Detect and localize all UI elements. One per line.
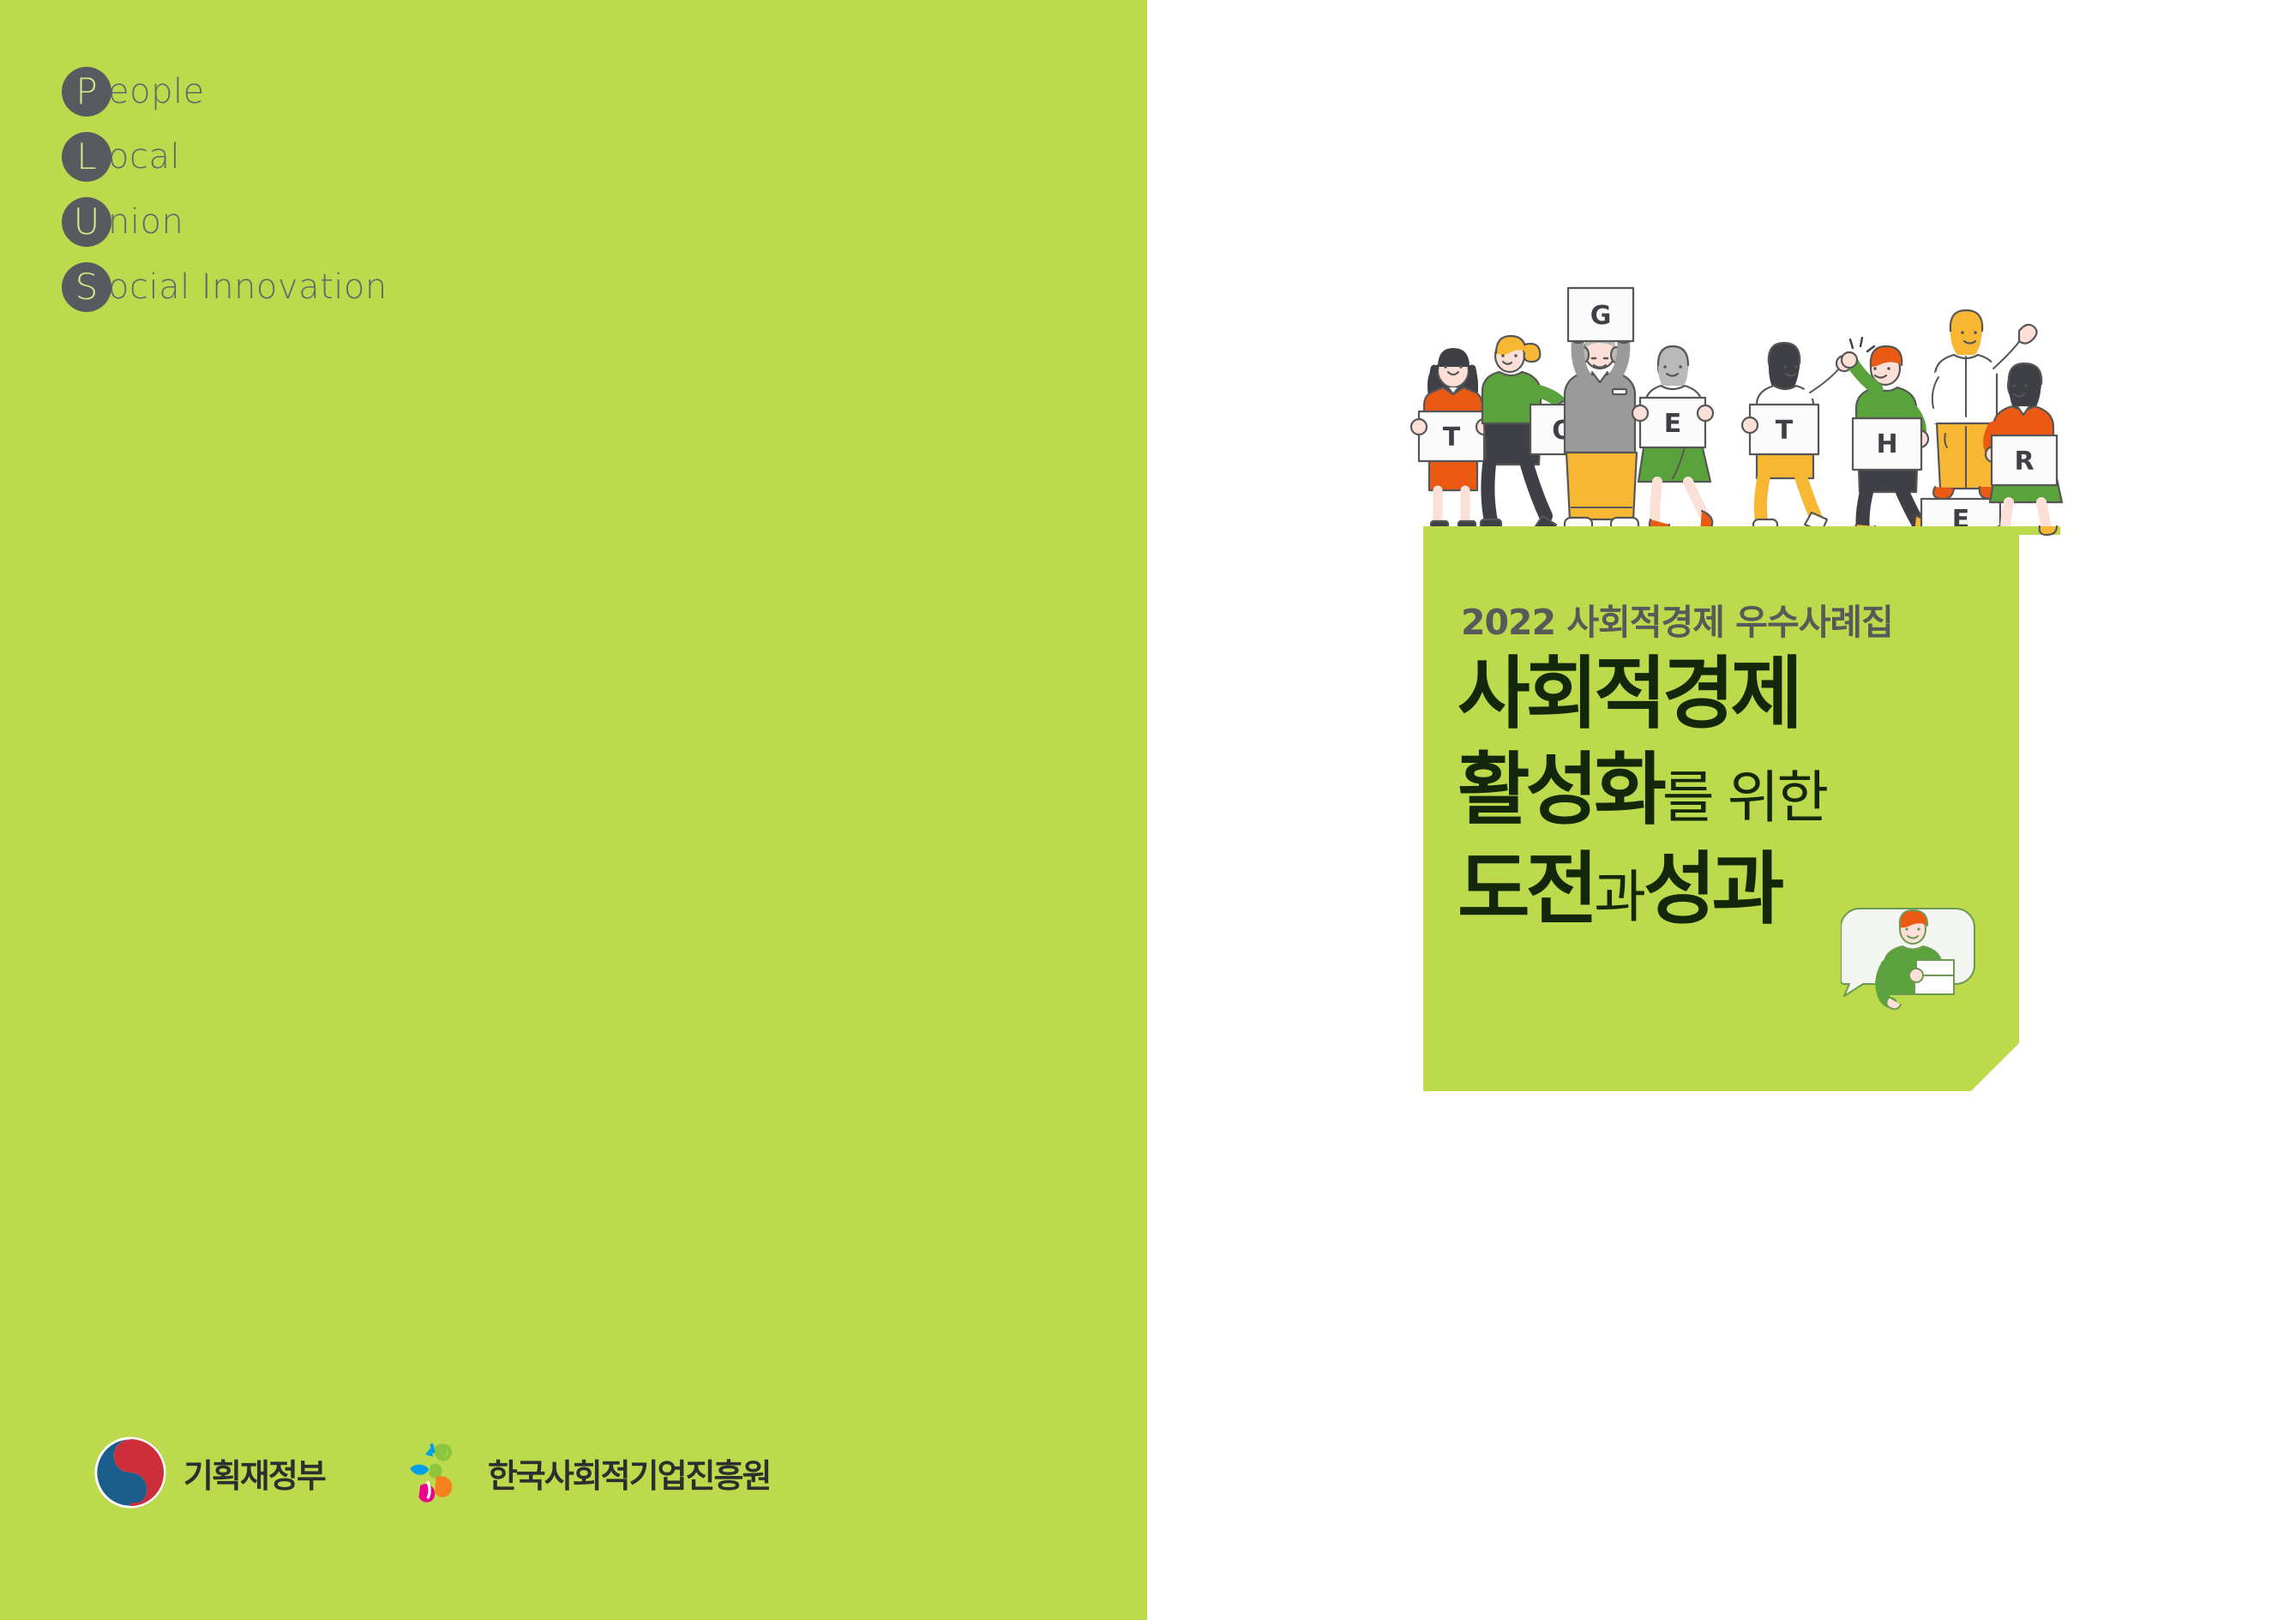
plus-circle-s: S xyxy=(62,262,111,312)
title-line-2-big: 활성화 xyxy=(1458,744,1662,836)
speech-bubble-person-illustration xyxy=(1841,897,1978,1012)
svg-text:T: T xyxy=(1443,423,1461,453)
plus-circle-u: U xyxy=(62,197,111,247)
plus-acronym-list: P eople L ocal U nion S ocial Inn xyxy=(62,67,388,312)
logo-unit-koseo: 한국사회적기업진흥원 xyxy=(399,1437,771,1509)
plus-row-people: P eople xyxy=(62,67,388,117)
plus-circle-p: P xyxy=(62,67,111,117)
title-line-3-small-a: 과 xyxy=(1594,864,1644,930)
svg-text:E: E xyxy=(1664,409,1682,439)
plus-row-social-innovation: S ocial Innovation xyxy=(62,262,388,312)
title-line-1-big: 사회적경제 xyxy=(1458,648,1799,740)
cover-eyebrow-text: 2022 사회적경제 우수사례집 xyxy=(1461,593,1893,645)
taegeuk-icon xyxy=(94,1437,166,1509)
plus-word-union: nion xyxy=(108,205,183,239)
front-cover-panel: T xyxy=(1147,0,2296,1620)
page-corner-fold xyxy=(1971,1043,2019,1091)
back-cover-panel: P eople L ocal U nion S ocial Inn xyxy=(0,0,1147,1620)
title-line-3: 도전과성과 xyxy=(1458,850,1780,929)
plus-word-people: eople xyxy=(108,75,205,109)
plus-row-union: U nion xyxy=(62,197,388,247)
person-1: T xyxy=(1411,348,1492,535)
title-block: 2022 사회적경제 우수사례집 사회적경제 활성화를 위한 도전과성과 xyxy=(1423,526,2019,1091)
svg-text:T: T xyxy=(1776,416,1794,446)
svg-text:H: H xyxy=(1876,429,1897,459)
title-line-2-small: 를 위한 xyxy=(1662,765,1826,831)
plus-word-local: ocal xyxy=(108,140,180,174)
plus-row-local: L ocal xyxy=(62,132,388,182)
person-3: G xyxy=(1565,288,1638,531)
logo-label-mofe: 기획재정부 xyxy=(183,1449,325,1497)
person-6: H xyxy=(1842,346,1928,535)
high-five-spark xyxy=(1850,338,1874,351)
plus-word-social-innovation: ocial Innovation xyxy=(108,270,388,304)
back-cover-logo-bar: 기획재정부 한국사회적기업진흥원 xyxy=(94,1437,770,1509)
title-line-3-big-a: 도전 xyxy=(1458,843,1594,935)
person-4: E xyxy=(1632,346,1713,533)
plus-letter-l: L xyxy=(76,139,96,175)
plus-letter-u: U xyxy=(74,204,100,240)
person-5: T xyxy=(1742,343,1852,533)
book-cover-spread: P eople L ocal U nion S ocial Inn xyxy=(0,0,2296,1620)
plus-letter-p: P xyxy=(75,74,97,110)
together-people-illustration: T xyxy=(1400,283,2086,540)
logo-unit-mofe: 기획재정부 xyxy=(94,1437,325,1509)
plus-letter-s: S xyxy=(75,269,99,305)
plus-circle-l: L xyxy=(62,132,111,182)
title-line-2: 활성화를 위한 xyxy=(1458,751,1826,830)
svg-text:G: G xyxy=(1590,301,1612,331)
logo-label-koseo: 한국사회적기업진흥원 xyxy=(488,1449,771,1497)
svg-text:R: R xyxy=(2014,447,2034,477)
koseo-person-icon xyxy=(399,1437,471,1509)
title-line-3-big-b: 성과 xyxy=(1644,843,1780,935)
title-line-1: 사회적경제 xyxy=(1458,655,1799,734)
